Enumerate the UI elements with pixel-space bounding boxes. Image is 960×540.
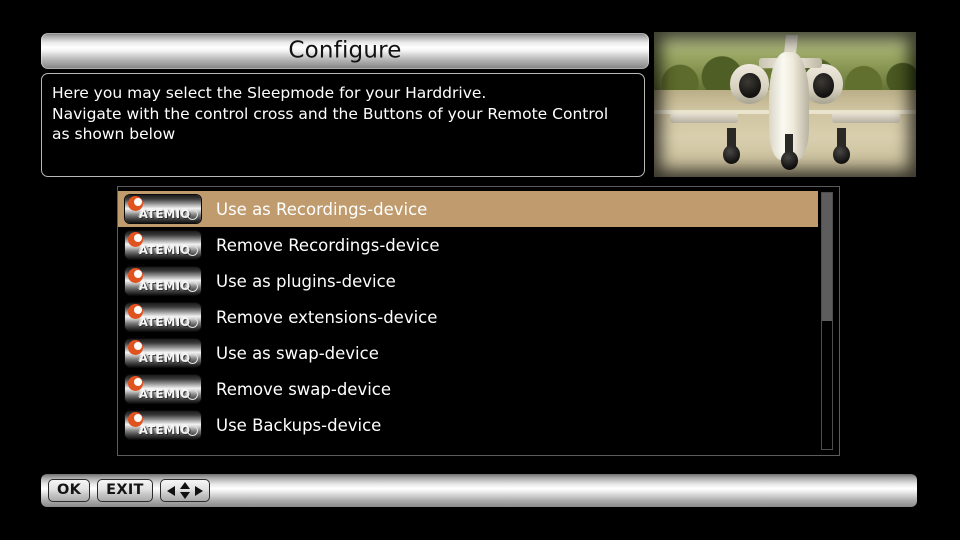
preview-image bbox=[654, 32, 916, 177]
arrow-right-icon bbox=[195, 486, 203, 496]
list-item-label: Use as plugins-device bbox=[216, 272, 396, 291]
list-items-container: ATEMIOUse as Recordings-deviceATEMIORemo… bbox=[118, 191, 818, 443]
list-item-label: Use Backups-device bbox=[216, 416, 381, 435]
atemio-logo-icon: ATEMIO bbox=[125, 231, 201, 259]
logo-ring-icon bbox=[187, 389, 198, 400]
device-option-list[interactable]: ATEMIOUse as Recordings-deviceATEMIORemo… bbox=[117, 186, 840, 456]
list-item[interactable]: ATEMIORemove Recordings-device bbox=[118, 227, 818, 263]
atemio-logo-wordmark: ATEMIO bbox=[139, 423, 191, 437]
list-item-label: Remove swap-device bbox=[216, 380, 391, 399]
title-bar: Configure bbox=[41, 33, 649, 69]
list-item[interactable]: ATEMIORemove extensions-device bbox=[118, 299, 818, 335]
list-item[interactable]: ATEMIOUse as swap-device bbox=[118, 335, 818, 371]
list-item-label: Use as swap-device bbox=[216, 344, 379, 363]
description-line-3: as shown below bbox=[52, 124, 634, 145]
arrow-left-icon bbox=[167, 486, 175, 496]
list-item[interactable]: ATEMIOUse as plugins-device bbox=[118, 263, 818, 299]
page-title: Configure bbox=[41, 40, 649, 63]
logo-ring-icon bbox=[187, 245, 198, 256]
jet-photo-illustration bbox=[654, 32, 916, 177]
atemio-logo-icon: ATEMIO bbox=[125, 195, 201, 223]
logo-ring-icon bbox=[187, 425, 198, 436]
list-item-label: Remove extensions-device bbox=[216, 308, 437, 327]
logo-ring-icon bbox=[187, 281, 198, 292]
ok-button-label: OK bbox=[57, 483, 81, 498]
logo-ring-icon bbox=[187, 353, 198, 364]
arrow-down-icon bbox=[180, 492, 190, 499]
button-bar: OKEXIT bbox=[41, 474, 917, 507]
direction-cross-icon bbox=[167, 482, 203, 499]
direction-cross-button[interactable] bbox=[160, 479, 210, 502]
atemio-logo-wordmark: ATEMIO bbox=[139, 387, 191, 401]
arrow-up-icon bbox=[180, 482, 190, 489]
atemio-logo-wordmark: ATEMIO bbox=[139, 351, 191, 365]
list-item-label: Use as Recordings-device bbox=[216, 200, 427, 219]
list-scrollbar[interactable] bbox=[821, 192, 833, 450]
atemio-logo-wordmark: ATEMIO bbox=[139, 243, 191, 257]
atemio-logo-icon: ATEMIO bbox=[125, 375, 201, 403]
logo-ring-icon bbox=[187, 317, 198, 328]
ok-button[interactable]: OK bbox=[48, 479, 90, 502]
atemio-logo-wordmark: ATEMIO bbox=[139, 279, 191, 293]
list-item[interactable]: ATEMIORemove swap-device bbox=[118, 371, 818, 407]
description-line-1: Here you may select the Sleepmode for yo… bbox=[52, 83, 634, 104]
description-panel: Here you may select the Sleepmode for yo… bbox=[41, 73, 645, 177]
atemio-logo-icon: ATEMIO bbox=[125, 303, 201, 331]
description-line-2: Navigate with the control cross and the … bbox=[52, 104, 634, 125]
atemio-logo-wordmark: ATEMIO bbox=[139, 207, 191, 221]
logo-ring-icon bbox=[187, 209, 198, 220]
exit-button[interactable]: EXIT bbox=[97, 479, 153, 502]
list-item-label: Remove Recordings-device bbox=[216, 236, 439, 255]
image-vignette bbox=[654, 32, 916, 177]
list-item[interactable]: ATEMIOUse Backups-device bbox=[118, 407, 818, 443]
exit-button-label: EXIT bbox=[106, 483, 144, 498]
atemio-logo-icon: ATEMIO bbox=[125, 339, 201, 367]
atemio-logo-icon: ATEMIO bbox=[125, 411, 201, 439]
tv-configure-screen: Configure Here you may select the Sleepm… bbox=[0, 0, 960, 540]
list-scrollbar-thumb[interactable] bbox=[822, 193, 832, 321]
atemio-logo-wordmark: ATEMIO bbox=[139, 315, 191, 329]
list-item[interactable]: ATEMIOUse as Recordings-device bbox=[118, 191, 818, 227]
atemio-logo-icon: ATEMIO bbox=[125, 267, 201, 295]
